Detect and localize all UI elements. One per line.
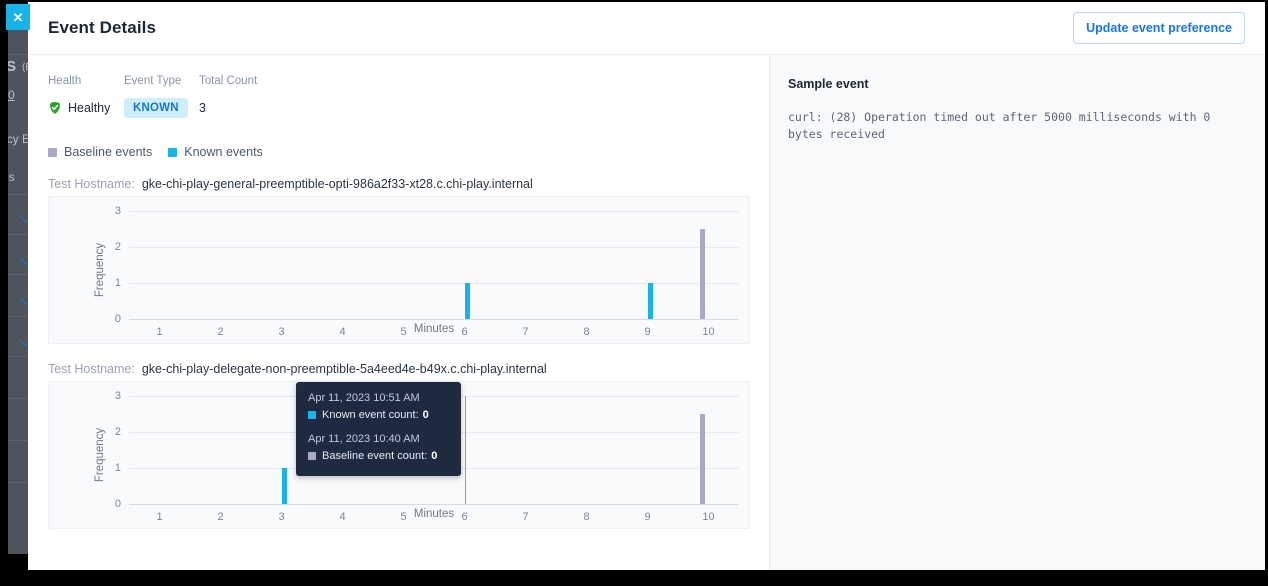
total-count-label: Total Count (199, 75, 289, 87)
chart-bar[interactable] (700, 229, 705, 319)
tooltip-row-baseline: Baseline event count: 0 (308, 450, 449, 462)
chart-y-tick-label: 3 (115, 390, 121, 402)
chart-2-x-axis-title: Minutes (129, 508, 739, 520)
chart-bar[interactable] (465, 283, 470, 319)
sample-event-title: Sample event (788, 77, 1243, 91)
tooltip-time-known: Apr 11, 2023 10:51 AM (308, 392, 449, 404)
event-type-label: Event Type (124, 75, 199, 87)
tooltip-row-known: Known event count: 0 (308, 409, 449, 421)
health-field: Health Healthy (48, 75, 124, 119)
tooltip-swatch-known-icon (308, 411, 316, 419)
event-type-field: Event Type KNOWN (124, 75, 199, 119)
chart-crosshair (465, 396, 466, 504)
tooltip-label-baseline: Baseline event count: (322, 450, 427, 462)
chart-bar[interactable] (700, 414, 705, 504)
legend-label-baseline: Baseline events (64, 145, 152, 159)
status-badge: KNOWN (124, 98, 188, 118)
event-metadata-row: Health Healthy Event Type KNOWN (48, 75, 749, 119)
event-details-modal: Event Details Update event preference He… (28, 2, 1265, 570)
tooltip-time-baseline: Apr 11, 2023 10:40 AM (308, 433, 449, 445)
chart-bar[interactable] (648, 283, 653, 319)
frequency-chart-2[interactable]: Frequency 012312345678910 Minutes Apr 11… (48, 381, 750, 529)
tooltip-group-known: Apr 11, 2023 10:51 AM Known event count:… (308, 392, 449, 421)
legend-item-baseline[interactable]: Baseline events (48, 145, 152, 159)
health-label: Health (48, 75, 124, 87)
frequency-chart-1[interactable]: Frequency 012312345678910 Minutes (48, 196, 750, 344)
tooltip-group-baseline: Apr 11, 2023 10:40 AM Baseline event cou… (308, 433, 449, 462)
chart-y-tick-label: 0 (115, 498, 121, 510)
total-count-field: Total Count 3 (199, 75, 289, 119)
chart-legend: Baseline events Known events (48, 145, 749, 159)
chart-bar[interactable] (282, 468, 287, 504)
tooltip-swatch-baseline-icon (308, 452, 316, 460)
tooltip-value-known: 0 (423, 409, 429, 421)
chart-y-tick-label: 3 (115, 205, 121, 217)
modal-header: Event Details Update event preference (28, 2, 1265, 55)
update-event-preference-button[interactable]: Update event preference (1073, 12, 1245, 44)
chart-2-y-axis-title: Frequency (94, 428, 106, 482)
chart-y-tick-label: 0 (115, 313, 121, 325)
legend-item-known[interactable]: Known events (168, 145, 263, 159)
chart-gridline (129, 247, 739, 248)
tooltip-value-baseline: 0 (431, 450, 437, 462)
chart-y-tick-label: 1 (115, 277, 121, 289)
health-value: Healthy (68, 101, 110, 115)
hostname-label-1: Test Hostname: (48, 177, 135, 191)
health-value-row: Healthy (48, 97, 124, 119)
legend-swatch-baseline-icon (48, 148, 57, 157)
chart-1-y-axis-title: Frequency (94, 243, 106, 297)
legend-label-known: Known events (184, 145, 263, 159)
chart-1-plot-area[interactable]: 012312345678910 (129, 211, 739, 319)
hostname-row-2: Test Hostname: gke-chi-play-delegate-non… (48, 362, 749, 376)
event-type-value-row: KNOWN (124, 97, 199, 119)
sample-event-pane: Sample event curl: (28) Operation timed … (770, 55, 1265, 570)
modal-body: Health Healthy Event Type KNOWN (28, 55, 1265, 570)
chart-y-tick-label: 2 (115, 241, 121, 253)
chart-gridline (129, 504, 739, 505)
total-count-value: 3 (199, 97, 289, 119)
hostname-row-1: Test Hostname: gke-chi-play-general-pree… (48, 177, 749, 191)
chart-gridline (129, 211, 739, 212)
chart-gridline (129, 319, 739, 320)
chart-y-tick-label: 2 (115, 426, 121, 438)
chart-tooltip: Apr 11, 2023 10:51 AM Known event count:… (296, 382, 461, 476)
tooltip-label-known: Known event count: (322, 409, 419, 421)
legend-swatch-known-icon (168, 148, 177, 157)
chart-y-tick-label: 1 (115, 462, 121, 474)
close-icon[interactable]: ✕ (6, 4, 30, 30)
shield-check-icon (48, 101, 62, 115)
hostname-value-2: gke-chi-play-delegate-non-preemptible-5a… (142, 362, 547, 376)
page-title: Event Details (48, 18, 156, 38)
hostname-label-2: Test Hostname: (48, 362, 135, 376)
hostname-value-1: gke-chi-play-general-preemptible-opti-98… (142, 177, 533, 191)
sample-event-text: curl: (28) Operation timed out after 500… (788, 109, 1243, 142)
chart-1-x-axis-title: Minutes (129, 323, 739, 335)
left-pane: Health Healthy Event Type KNOWN (28, 55, 770, 570)
